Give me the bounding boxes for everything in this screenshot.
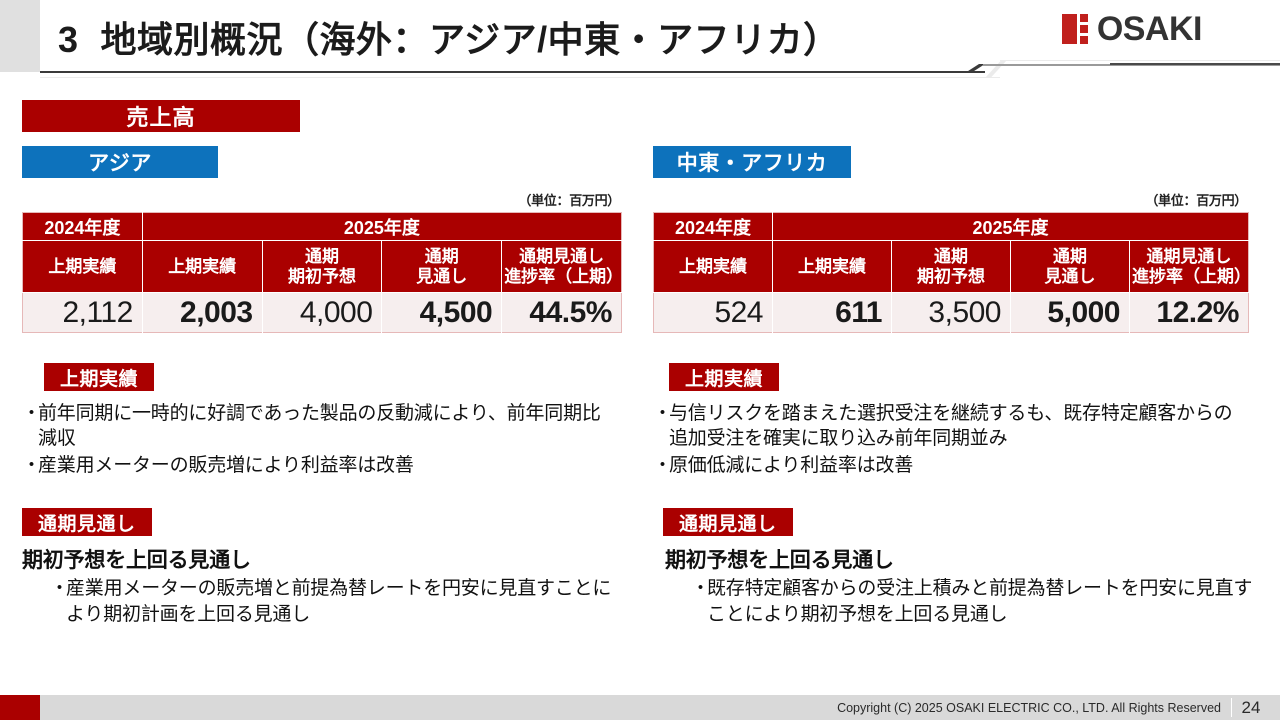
slide-footer: Copyright (C) 2025 OSAKI ELECTRIC CO., L… bbox=[0, 695, 1280, 720]
copyright-text: Copyright (C) 2025 OSAKI ELECTRIC CO., L… bbox=[837, 695, 1221, 720]
column-header-0: 上期実績 bbox=[23, 241, 143, 293]
table-group-header-row: 2024年度 2025年度 bbox=[654, 213, 1249, 241]
value-cell-2: 3,500 bbox=[892, 293, 1011, 333]
page-title-text: 地域別概況（海外：アジア/中東・アフリカ） bbox=[101, 19, 840, 60]
column-header-0: 上期実績 bbox=[654, 241, 773, 293]
column-header-2: 通期 期初予想 bbox=[892, 241, 1011, 293]
fy-outlook-lead-asia: 期初予想を上回る見通し bbox=[22, 544, 622, 574]
fy-outlook-lead-mea: 期初予想を上回る見通し bbox=[653, 544, 1253, 574]
region-column-asia: アジア （単位：百万円） 2024年度 2025年度 上期実績 上期実績 通期 … bbox=[22, 146, 622, 629]
value-cell-4: 12.2% bbox=[1130, 293, 1249, 333]
page-number: 24 bbox=[1234, 695, 1268, 720]
value-cell-3: 4,500 bbox=[382, 293, 502, 333]
unit-label-mea: （単位：百万円） bbox=[653, 190, 1249, 209]
section-tag-fy-outlook-mea: 通期見通し bbox=[663, 508, 793, 536]
header-accent-block bbox=[0, 0, 40, 72]
column-header-4: 通期見通し 進捗率（上期） bbox=[502, 241, 622, 293]
region-column-mea: 中東・アフリカ （単位：百万円） 2024年度 2025年度 上期実績 上期実績… bbox=[653, 146, 1253, 629]
group-header-fy2024: 2024年度 bbox=[654, 213, 773, 241]
osaki-logo-text: OSAKI bbox=[1097, 12, 1202, 46]
section-tag-h1-results-mea: 上期実績 bbox=[669, 363, 779, 391]
table-column-header-row: 上期実績 上期実績 通期 期初予想 通期 見通し 通期見通し 進捗率（上期） bbox=[23, 241, 622, 293]
bullet-marker-icon: ・ bbox=[22, 401, 38, 451]
table-group-header-row: 2024年度 2025年度 bbox=[23, 213, 622, 241]
section-tag-fy-outlook-asia: 通期見通し bbox=[22, 508, 152, 536]
bullet-marker-icon: ・ bbox=[653, 453, 669, 478]
group-header-fy2025: 2025年度 bbox=[773, 213, 1249, 241]
table-value-row: 2,112 2,003 4,000 4,500 44.5% bbox=[23, 293, 622, 333]
osaki-logo-mark-icon bbox=[1062, 14, 1088, 44]
header-divider-light-diagonal bbox=[985, 60, 1007, 78]
list-item-text: 産業用メーターの販売増により利益率は改善 bbox=[38, 453, 608, 478]
bullet-list-h1-mea: ・ 与信リスクを踏まえた選択受注を継続するも、既存特定顧客からの追加受注を確実に… bbox=[653, 401, 1239, 478]
list-item-text: 既存特定顧客からの受注上積みと前提為替レートを円安に見直すことにより期初予想を上… bbox=[707, 576, 1253, 628]
slide-header: 3地域別概況（海外：アジア/中東・アフリカ） OSAKI bbox=[0, 0, 1280, 74]
bullet-marker-icon: ・ bbox=[22, 453, 38, 478]
list-item-text: 原価低減により利益率は改善 bbox=[669, 453, 1239, 478]
value-cell-0: 2,112 bbox=[23, 293, 143, 333]
column-header-2: 通期 期初予想 bbox=[262, 241, 382, 293]
region-badge-mea: 中東・アフリカ bbox=[653, 146, 851, 178]
header-divider-light-left bbox=[40, 77, 1000, 78]
tag-wrap-fy-asia: 通期見通し bbox=[22, 508, 622, 536]
column-header-3: 通期 見通し bbox=[382, 241, 502, 293]
column-header-1: 上期実績 bbox=[142, 241, 262, 293]
list-item: ・ 産業用メーターの販売増と前提為替レートを円安に見直すことにより期初計画を上回… bbox=[50, 576, 622, 628]
footer-separator bbox=[1231, 698, 1232, 717]
list-item: ・ 既存特定顧客からの受注上積みと前提為替レートを円安に見直すことにより期初予想… bbox=[691, 576, 1253, 628]
group-header-fy2024: 2024年度 bbox=[23, 213, 143, 241]
list-item: ・ 産業用メーターの販売増により利益率は改善 bbox=[22, 453, 608, 478]
page-title-number: 3 bbox=[58, 19, 79, 60]
column-header-4: 通期見通し 進捗率（上期） bbox=[1130, 241, 1249, 293]
section-tag-h1-results-asia: 上期実績 bbox=[44, 363, 154, 391]
bullet-marker-icon: ・ bbox=[50, 576, 66, 628]
value-cell-2: 4,000 bbox=[262, 293, 382, 333]
value-cell-3: 5,000 bbox=[1011, 293, 1130, 333]
unit-label-asia: （単位：百万円） bbox=[22, 190, 622, 209]
list-item-text: 前年同期に一時的に好調であった製品の反動減により、前年同期比減収 bbox=[38, 401, 608, 451]
list-item: ・ 前年同期に一時的に好調であった製品の反動減により、前年同期比減収 bbox=[22, 401, 608, 451]
value-cell-1: 2,003 bbox=[142, 293, 262, 333]
table-column-header-row: 上期実績 上期実績 通期 期初予想 通期 見通し 通期見通し 進捗率（上期） bbox=[654, 241, 1249, 293]
header-divider-left bbox=[40, 71, 985, 73]
region-badge-asia: アジア bbox=[22, 146, 218, 178]
list-item-text: 産業用メーターの販売増と前提為替レートを円安に見直すことにより期初計画を上回る見… bbox=[66, 576, 622, 628]
list-item: ・ 原価低減により利益率は改善 bbox=[653, 453, 1239, 478]
tag-wrap-fy-mea: 通期見通し bbox=[653, 508, 1253, 536]
page-title: 3地域別概況（海外：アジア/中東・アフリカ） bbox=[58, 11, 840, 63]
header-divider-light-right bbox=[1000, 60, 1280, 61]
financial-table-asia: 2024年度 2025年度 上期実績 上期実績 通期 期初予想 通期 見通し bbox=[22, 212, 622, 333]
bullet-list-h1-asia: ・ 前年同期に一時的に好調であった製品の反動減により、前年同期比減収 ・ 産業用… bbox=[22, 401, 608, 478]
bullet-marker-icon: ・ bbox=[691, 576, 707, 628]
value-cell-4: 44.5% bbox=[502, 293, 622, 333]
tag-wrap-h1-mea: 上期実績 bbox=[653, 363, 1253, 391]
group-header-fy2025: 2025年度 bbox=[142, 213, 621, 241]
sales-banner: 売上高 bbox=[22, 100, 300, 132]
tag-wrap-h1-asia: 上期実績 bbox=[22, 363, 622, 391]
bullet-list-fy-asia: ・ 産業用メーターの販売増と前提為替レートを円安に見直すことにより期初計画を上回… bbox=[22, 576, 622, 628]
list-item-text: 与信リスクを踏まえた選択受注を継続するも、既存特定顧客からの追加受注を確実に取り… bbox=[669, 401, 1239, 451]
osaki-logo: OSAKI bbox=[1062, 12, 1202, 46]
table-value-row: 524 611 3,500 5,000 12.2% bbox=[654, 293, 1249, 333]
column-header-1: 上期実績 bbox=[773, 241, 892, 293]
list-item: ・ 与信リスクを踏まえた選択受注を継続するも、既存特定顧客からの追加受注を確実に… bbox=[653, 401, 1239, 451]
value-cell-0: 524 bbox=[654, 293, 773, 333]
column-header-3: 通期 見通し bbox=[1011, 241, 1130, 293]
value-cell-1: 611 bbox=[773, 293, 892, 333]
bullet-list-fy-mea: ・ 既存特定顧客からの受注上積みと前提為替レートを円安に見直すことにより期初予想… bbox=[653, 576, 1253, 628]
footer-accent-block bbox=[0, 695, 40, 720]
bullet-marker-icon: ・ bbox=[653, 401, 669, 451]
header-divider-right-dark bbox=[1110, 63, 1280, 65]
financial-table-mea: 2024年度 2025年度 上期実績 上期実績 通期 期初予想 通期 見通し bbox=[653, 212, 1249, 333]
slide-root: 3地域別概況（海外：アジア/中東・アフリカ） OSAKI 売上高 アジア （単位… bbox=[0, 0, 1280, 720]
